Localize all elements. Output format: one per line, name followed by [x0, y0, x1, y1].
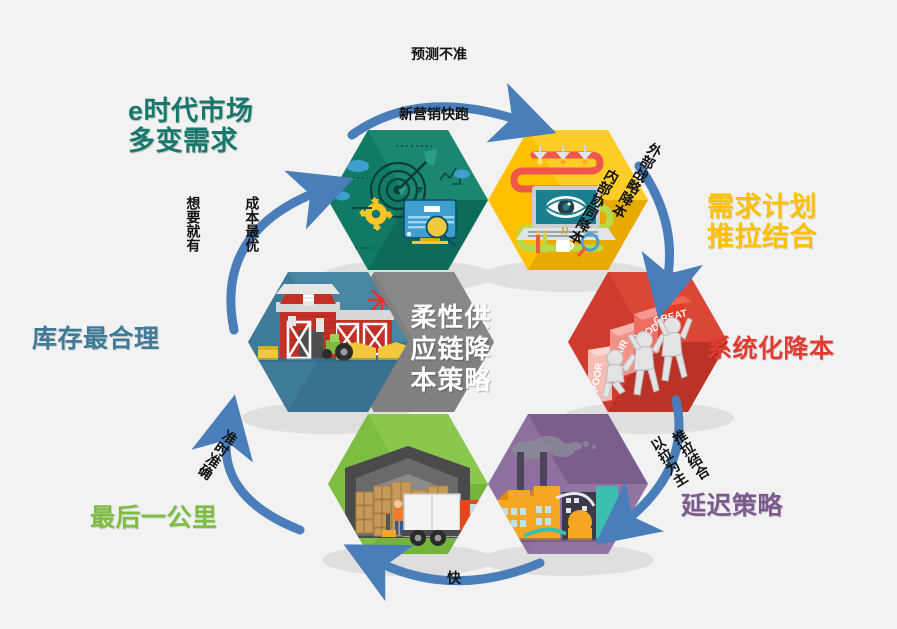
label-delay: 延迟策略 — [681, 492, 783, 520]
center-title-line-3: 本策略 — [381, 365, 521, 397]
annotation-forecast-outer: 预测不准 — [411, 47, 467, 62]
annotation-want-it-have-it: 想要就有 — [185, 196, 200, 252]
annotation-marketing-inner: 新营销快跑 — [399, 107, 469, 122]
label-lastmile: 最后一公里 — [90, 504, 218, 532]
label-market: e时代市场 多变需求 — [128, 96, 254, 156]
center-title-line-2: 应链降 — [381, 334, 521, 366]
label-demand: 需求计划 推拉结合 — [707, 192, 817, 252]
annotation-cost-optimal: 成本最优 — [244, 196, 259, 252]
arrow-lower-left — [226, 428, 300, 530]
center-title-line-1: 柔性供 — [381, 302, 521, 334]
petal-market[interactable] — [328, 130, 488, 270]
label-system: 系统化降本 — [707, 335, 835, 363]
diagram-canvas: POOR FAIR GOOD GREAT — [0, 0, 897, 629]
petal-lastmile[interactable] — [328, 414, 492, 554]
annotation-fast: 快 — [447, 571, 461, 586]
center-title: 柔性供 应链降 本策略 — [381, 302, 521, 397]
petal-system[interactable]: POOR FAIR GOOD GREAT — [568, 272, 728, 412]
petal-delay[interactable] — [488, 414, 648, 554]
label-stock: 库存最合理 — [32, 325, 160, 353]
